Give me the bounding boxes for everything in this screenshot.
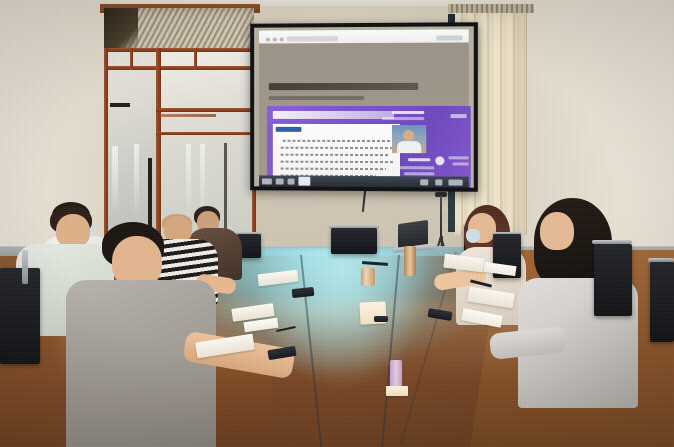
sidebar-subheading [382,117,424,120]
right-rail-label [452,162,468,165]
projection-screen[interactable] [250,22,478,192]
sidebar-section-title [408,158,430,161]
meeting-room-photo: Conference room meeting with projected w… [0,0,674,447]
taskbar-icon[interactable] [276,178,284,184]
door-frame-top [104,48,256,52]
door-glass-highlight-b [134,144,139,214]
address-bar[interactable] [287,36,338,41]
face-mask [466,229,480,243]
right-rail-label [448,156,468,159]
taskbar-active-window[interactable] [298,177,310,186]
tray-icon[interactable] [435,179,442,185]
web-page-body [259,42,469,184]
window-control-dots[interactable] [266,37,284,41]
door-mullion-b [156,48,161,238]
door-inner-frame [160,114,216,117]
doc-text-line [281,168,386,171]
chair-right-front[interactable] [594,244,632,316]
doc-text-line [281,161,394,163]
os-taskbar[interactable] [259,175,469,187]
sidebar-body-line [398,166,434,169]
player-badge [450,114,466,118]
sidebar-body-line [404,172,434,175]
soffit-shadow [104,8,138,48]
blinds-rail [448,4,534,13]
page-headline [269,83,418,90]
chair-post [22,250,28,284]
sidebar-heading [392,111,424,114]
speaker-face [403,130,414,141]
door-hardware [110,103,130,107]
door-mullion-a [130,48,133,70]
video-title-banner [273,111,394,119]
doc-text-line [281,147,392,149]
head [56,214,90,248]
door-rail-mid [156,108,256,112]
chair-right-edge[interactable] [650,262,674,342]
head [540,212,574,250]
info-icon[interactable] [435,156,444,165]
torso [66,280,216,447]
browser-toolbar[interactable] [259,29,469,43]
glass-door[interactable] [104,48,256,238]
breadcrumb[interactable] [269,96,364,100]
door-mullion-c [194,48,197,70]
smartphone[interactable] [374,316,388,322]
document-logo [276,127,302,132]
taskbar-clock[interactable] [448,179,462,185]
door-glass-highlight-a [112,146,118,212]
door-glass-highlight-c [186,144,191,216]
doc-text-line [283,140,390,142]
door-rail-low [156,132,256,135]
doc-text-line [281,154,390,156]
speaker-video-thumbnail[interactable] [392,125,426,153]
bottle-base [386,386,408,396]
browser-right-controls[interactable] [436,35,462,40]
speaker-torso [397,141,421,153]
laptop-screen[interactable] [398,220,428,248]
paper-cup[interactable] [361,268,375,286]
taskbar-start-button[interactable] [262,178,272,184]
taskbar-icon[interactable] [288,179,295,185]
door-frame-left [104,48,108,238]
thermos-cup[interactable] [404,246,416,276]
chair-left-front[interactable] [0,268,40,364]
door-far-jamb [224,143,227,235]
projected-image [254,26,474,187]
tray-icon[interactable] [420,179,428,185]
door-transom-rail [104,66,256,70]
chair-head-of-table[interactable] [331,228,377,254]
